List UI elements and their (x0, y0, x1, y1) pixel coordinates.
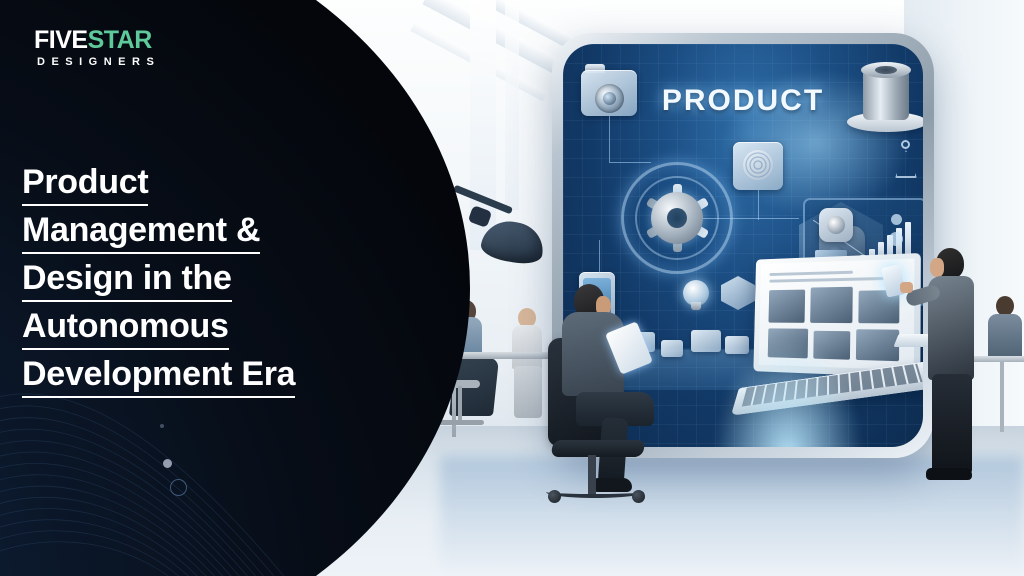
antenna-signal-icon (901, 140, 910, 149)
page-title: Product Management & Design in the Auton… (22, 158, 422, 398)
office-chair-seat (551, 440, 646, 457)
logo-star-text: STAR (88, 26, 152, 54)
decorative-dot (160, 424, 164, 428)
headline-line-text: Product (22, 163, 148, 206)
connector-line (609, 162, 651, 163)
dark-overlay-panel: FIVESTAR DESIGNERS Product Management & … (0, 0, 470, 576)
laptop-thumbnail (810, 287, 853, 323)
headline-line: Design in the (22, 254, 422, 302)
spool-hole (875, 66, 897, 74)
standing-person-face (930, 258, 944, 277)
connector-line (758, 190, 759, 220)
headline-line-text: Management & (22, 211, 260, 254)
screen-light-beam (713, 337, 863, 447)
logo-subtitle: DESIGNERS (37, 57, 160, 68)
standing-person-shoe (926, 468, 972, 480)
laptop-text-line (770, 271, 853, 276)
headline-line-text: Development Era (22, 355, 295, 398)
chair-wheel (548, 490, 561, 503)
logo-five-text: FIVE (34, 26, 88, 54)
laptop-thumbnail (768, 290, 805, 323)
background-person-legs (514, 366, 542, 418)
brand-logo[interactable]: FIVESTAR DESIGNERS (34, 28, 160, 68)
window-column (505, 0, 519, 210)
holo-box (661, 340, 683, 357)
gear-icon (651, 192, 703, 244)
laptop-text-line (769, 277, 893, 283)
headline-line-text: Design in the (22, 259, 232, 302)
standing-person-legs (932, 374, 972, 474)
headline-line: Development Era (22, 350, 422, 398)
logo-wordmark: FIVESTAR (34, 28, 160, 53)
standing-person-hand (900, 282, 913, 293)
status-dot (891, 214, 902, 225)
headline-line: Product (22, 158, 422, 206)
camera-lens-icon (595, 84, 624, 113)
background-person-torso (988, 314, 1022, 358)
table-leg (1000, 362, 1004, 432)
lightbulb-base (691, 302, 701, 310)
analytics-badge-icon (819, 208, 853, 242)
status-dot (889, 232, 903, 246)
connector-line (609, 116, 610, 162)
chair-wheel (632, 490, 645, 503)
connector-line (703, 218, 799, 219)
headline-line-text: Autonomous (22, 307, 229, 350)
background-person-head (996, 296, 1014, 316)
decorative-dot (163, 459, 172, 468)
headline-line: Management & (22, 206, 422, 254)
hero-banner: PRODUCT (0, 0, 1024, 576)
background-person-torso (512, 325, 542, 369)
decorative-ring (170, 479, 187, 496)
headline-line: Autonomous (22, 302, 422, 350)
connector-line (599, 240, 600, 274)
fingerprint-icon (743, 150, 773, 180)
